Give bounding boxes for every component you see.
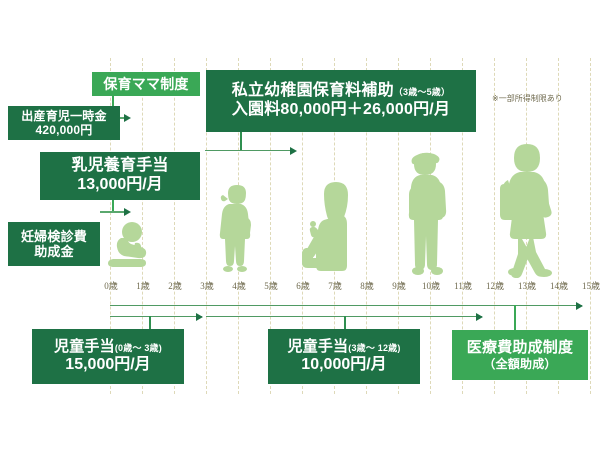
connector-shiritsu-horizontal xyxy=(205,150,295,151)
jidou-0-3-age-range: (0歳〜 3歳) xyxy=(115,343,162,353)
arrowhead-jidou312 xyxy=(476,313,483,321)
axis-label-0: 0歳 xyxy=(94,279,128,292)
arrowhead-hoiku-mama xyxy=(124,114,131,122)
shiritsu-title: 私立幼稚園保育料補助 xyxy=(232,82,394,99)
jidou-3-12-amount: 10,000円/月 xyxy=(301,356,386,375)
shussan-title: 出産育児一時金 xyxy=(21,109,106,123)
jidou-3-12-title: 児童手当 xyxy=(287,338,348,355)
ninpu-sub: 助成金 xyxy=(34,244,74,259)
shussan-box[interactable]: 出産育児一時金 420,000円 xyxy=(8,106,120,140)
axis-label-7: 7歳 xyxy=(318,279,352,292)
jidou-0-3-box[interactable]: 児童手当(0歳〜 3歳) 15,000円/月 xyxy=(32,329,184,384)
connector-shiritsu-vertical xyxy=(240,131,242,151)
jidou-3-12-age-range: (3歳〜 12歳) xyxy=(348,343,400,353)
arrowhead-shiritsu xyxy=(290,147,297,155)
axis-label-13: 13歳 xyxy=(510,279,544,292)
income-limit-note: ※一部所得制限あり xyxy=(492,93,563,104)
axis-label-11: 11歳 xyxy=(446,279,480,292)
nyuji-amount: 13,000円/月 xyxy=(77,176,162,195)
nyuji-title: 乳児養育手当 xyxy=(71,157,168,176)
hoiku-mama-box[interactable]: 保育ママ制度 xyxy=(92,72,200,96)
child-sitting-silhouette xyxy=(302,182,352,274)
axis-label-9: 9歳 xyxy=(382,279,416,292)
arrowhead-nyuji xyxy=(124,208,131,216)
arrowhead-jidou03 xyxy=(196,313,203,321)
axis-label-3: 3歳 xyxy=(190,279,224,292)
jidou-3-12-title-row: 児童手当(3歳〜 12歳) xyxy=(287,338,400,356)
axis-label-8: 8歳 xyxy=(350,279,384,292)
schoolboy-backpack-silhouette xyxy=(408,151,452,275)
jidou-0-3-amount: 15,000円/月 xyxy=(65,356,150,375)
jidou-3-12-box[interactable]: 児童手当(3歳〜 12歳) 10,000円/月 xyxy=(268,329,420,384)
jidou-0-3-title-row: 児童手当(0歳〜 3歳) xyxy=(54,338,162,356)
shussan-amount: 420,000円 xyxy=(36,123,93,137)
schoolgirl-bag-silhouette xyxy=(500,144,556,278)
shiritsu-title-row: 私立幼稚園保育料補助（3歳〜5歳） xyxy=(232,82,450,101)
iryou-title: 医療費助成制度 xyxy=(467,339,573,357)
arrowhead-iryou xyxy=(576,302,583,310)
connector-nyuji-horizontal xyxy=(100,211,126,213)
axis-label-15: 15歳 xyxy=(574,279,600,292)
axis-label-5: 5歳 xyxy=(254,279,288,292)
axis-label-4: 4歳 xyxy=(222,279,256,292)
ninpu-title: 妊婦検診費 xyxy=(21,229,87,244)
shiritsu-age-range: （3歳〜5歳） xyxy=(394,87,450,97)
connector-iryou-horizontal xyxy=(110,305,582,306)
gridline xyxy=(590,58,591,394)
axis-label-6: 6歳 xyxy=(286,279,320,292)
iryou-sub: （全額助成） xyxy=(483,357,556,371)
baby-crawling-silhouette xyxy=(105,222,151,270)
shiritsu-box[interactable]: 私立幼稚園保育料補助（3歳〜5歳） 入園料80,000円＋26,000円/月 xyxy=(206,70,476,132)
hoiku-mama-label: 保育ママ制度 xyxy=(103,76,188,93)
nyuji-box[interactable]: 乳児養育手当 13,000円/月 xyxy=(40,152,200,200)
axis-label-2: 2歳 xyxy=(158,279,192,292)
iryou-box[interactable]: 医療費助成制度 （全額助成） xyxy=(452,330,588,380)
axis-label-12: 12歳 xyxy=(478,279,512,292)
axis-label-1: 1歳 xyxy=(126,279,160,292)
chart-canvas: 保育ママ制度 出産育児一時金 420,000円 乳児養育手当 13,000円/月… xyxy=(0,0,600,449)
toddler-standing-silhouette xyxy=(218,185,254,273)
axis-label-10: 10歳 xyxy=(414,279,448,292)
shiritsu-amount: 入園料80,000円＋26,000円/月 xyxy=(232,101,450,120)
ninpu-box[interactable]: 妊婦検診費 助成金 xyxy=(8,222,100,266)
connector-jidou03-horizontal xyxy=(110,316,202,317)
jidou-0-3-title: 児童手当 xyxy=(54,338,115,355)
axis-label-14: 14歳 xyxy=(542,279,576,292)
